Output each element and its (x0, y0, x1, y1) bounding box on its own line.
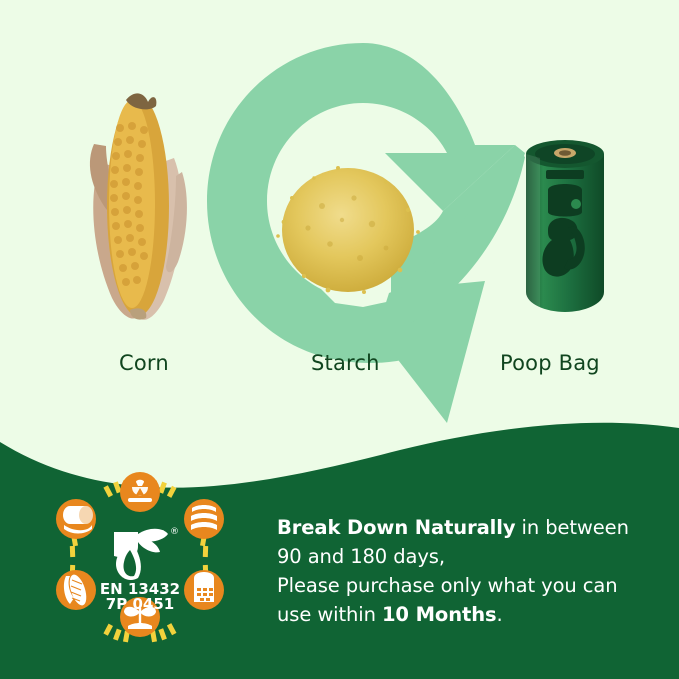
promo-text-inbetween: in between (515, 516, 628, 539)
promo-text-period: . (497, 603, 503, 626)
promo-line-1: Break Down Naturally in between (277, 513, 659, 542)
stage-label-poop-bag: Poop Bag (500, 351, 600, 375)
compost-layers-icon (184, 499, 224, 539)
compostable-bag-icon (120, 472, 160, 512)
promo-strong-breakdown: Break Down Naturally (277, 516, 515, 539)
corn-cob-icon (56, 570, 96, 610)
starch-powder-image (268, 158, 428, 298)
compostable-certification-badge: ® EN 13432 7P 0451 (52, 472, 228, 648)
compost-bin-icon (184, 570, 224, 610)
promo-line-3: Please purchase only what you can (277, 571, 659, 600)
promo-text-usewithin: use within (277, 603, 382, 626)
cert-standard-line2: 7P 0451 (106, 595, 174, 613)
promo-line-2: 90 and 180 days, (277, 542, 659, 571)
registered-mark: ® (170, 527, 179, 537)
promo-strong-months: 10 Months (382, 603, 497, 626)
product-infographic: Corn Starch Poop Bag (0, 0, 679, 679)
poop-bag-roll-image (518, 128, 612, 318)
film-roll-icon (56, 499, 96, 539)
corn-cob-image (78, 66, 198, 324)
seedling-logo-mark: ® (114, 527, 179, 580)
stage-label-starch: Starch (311, 351, 380, 375)
promo-line-4: use within 10 Months. (277, 600, 659, 629)
stage-label-corn: Corn (119, 351, 169, 375)
promo-text-block: Break Down Naturally in between 90 and 1… (277, 513, 659, 629)
